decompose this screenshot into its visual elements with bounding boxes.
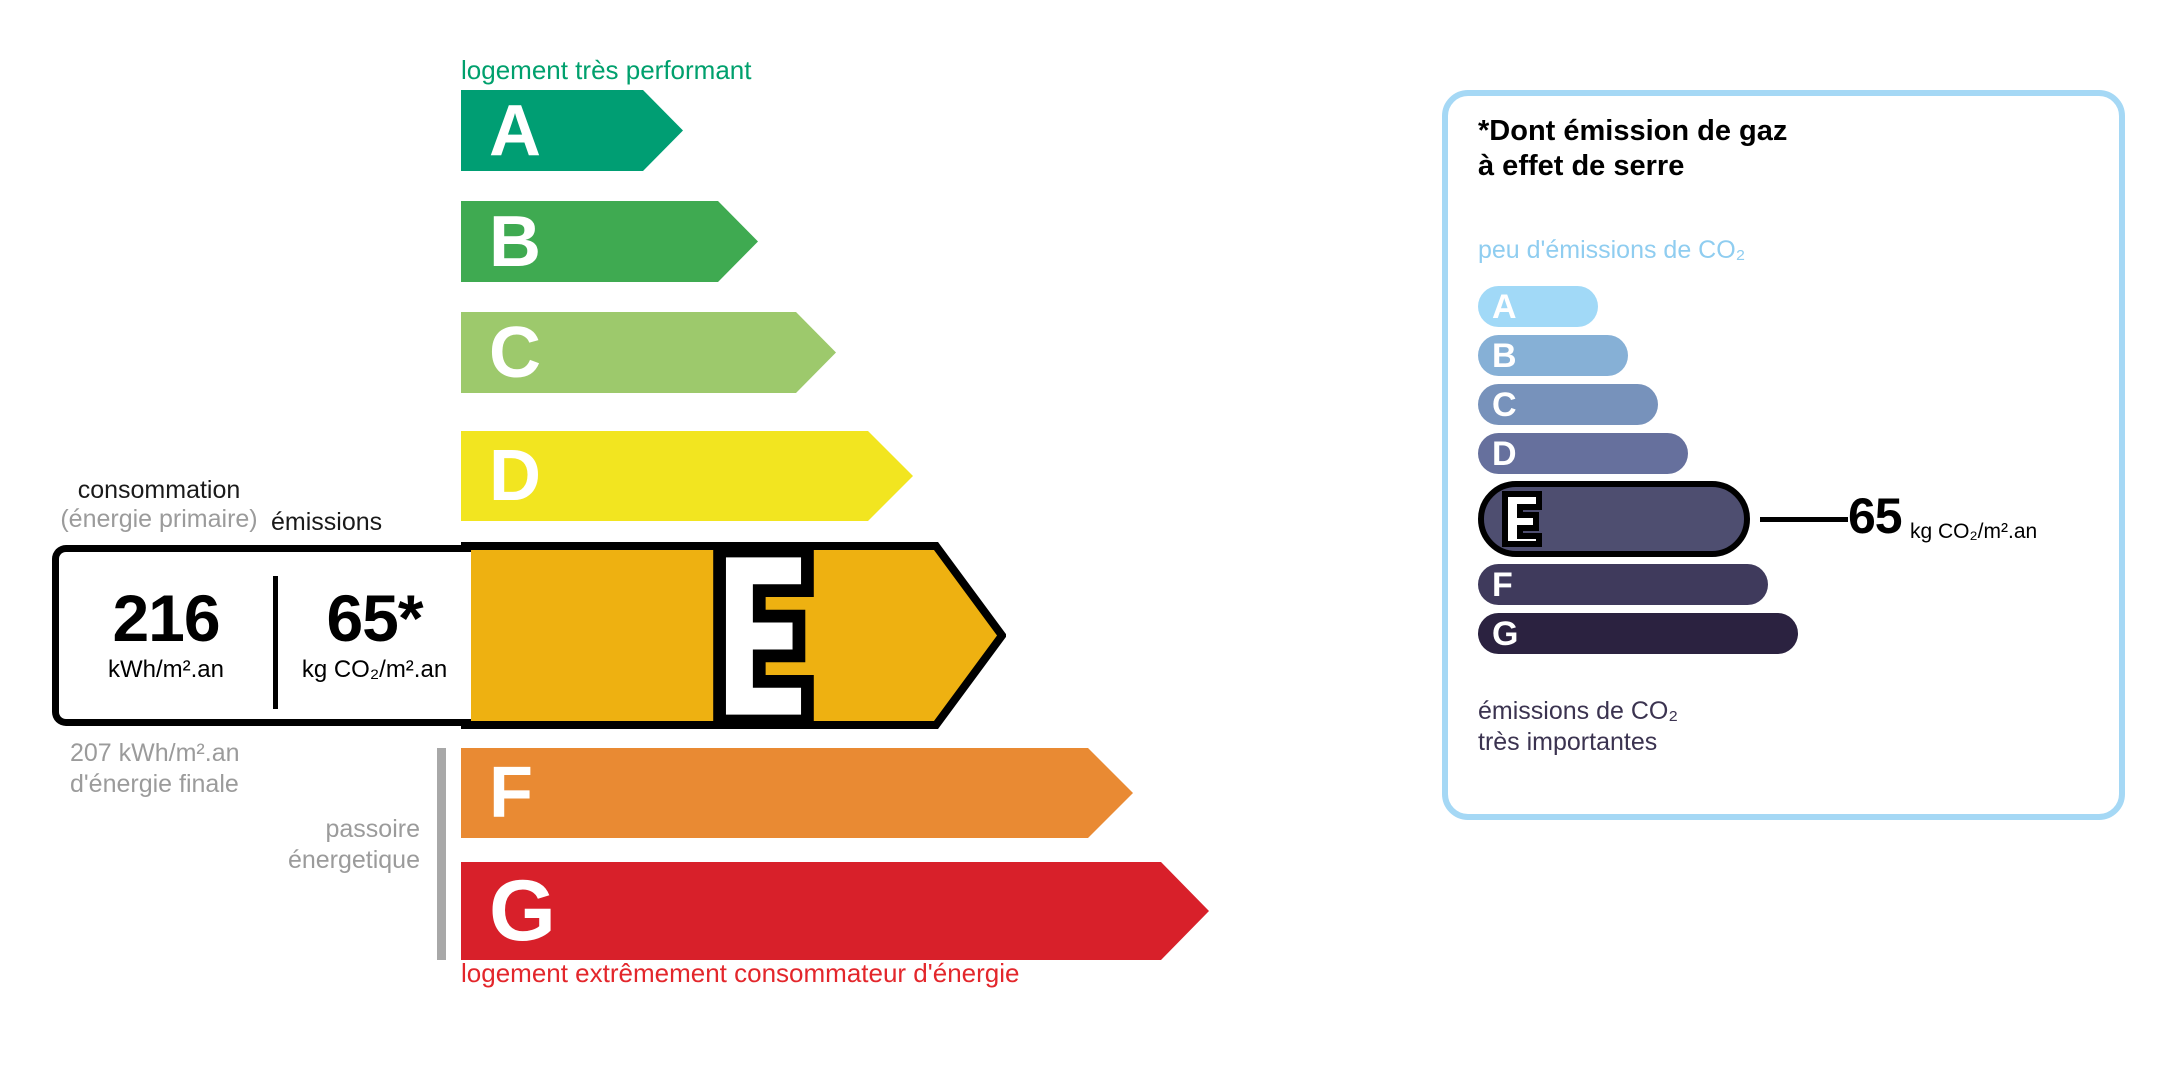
energy-class-letter-a: A: [489, 95, 541, 167]
ges-class-letter-b: B: [1492, 339, 1517, 373]
ges-callout-unit: kg CO₂/m².an: [1910, 520, 2037, 544]
energy-class-letter-g: G: [489, 868, 556, 954]
ges-bar-e-selected: [1478, 481, 1750, 557]
ges-footer: émissions de CO₂ très importantes: [1478, 696, 1678, 757]
ges-class-row-d[interactable]: D: [1478, 433, 1688, 474]
energy-bottom-caption: logement extrêmement consommateur d'éner…: [461, 958, 1019, 989]
consommation-label-main: consommation: [78, 476, 241, 504]
ges-bar-d: D: [1478, 433, 1688, 474]
energy-class-letter-b: B: [489, 206, 541, 278]
ges-class-letter-a: A: [1492, 290, 1517, 324]
ges-class-row-f[interactable]: F: [1478, 564, 1768, 605]
ges-class-row-a[interactable]: A: [1478, 286, 1598, 327]
energy-arrow-e-selected: [461, 542, 1006, 729]
final-energy-note: 207 kWh/m².an d'énergie finale: [70, 738, 240, 801]
ges-bar-a: A: [1478, 286, 1598, 327]
co2-emissions-cell: 65* kg CO₂/m².an: [278, 552, 471, 719]
passoire-indicator-bar: [437, 748, 446, 960]
ges-title: *Dont émission de gaz à effet de serre: [1478, 114, 1787, 185]
consommation-label: consommation (énergie primaire): [52, 476, 266, 534]
ges-class-letter-f: F: [1492, 568, 1513, 602]
energy-class-letter-e: [491, 542, 1036, 729]
ges-panel: *Dont émission de gaz à effet de serre p…: [1442, 90, 2125, 820]
ges-class-letter-c: C: [1492, 388, 1517, 422]
ges-bar-g: G: [1478, 613, 1798, 654]
ges-callout-value: 65: [1848, 491, 1902, 541]
primary-energy-unit: kWh/m².an: [108, 656, 224, 684]
energy-arrow-a: A: [461, 90, 683, 171]
ges-class-row-e[interactable]: [1478, 481, 1750, 557]
ges-bar-b: B: [1478, 335, 1628, 376]
consommation-label-sub: (énergie primaire): [52, 505, 266, 534]
energy-class-letter-c: C: [489, 317, 541, 389]
energy-class-row-d[interactable]: D: [461, 431, 913, 521]
ges-class-row-b[interactable]: B: [1478, 335, 1628, 376]
primary-energy-value: 216: [112, 587, 219, 650]
energy-top-caption: logement très performant: [461, 55, 751, 86]
energy-class-row-f[interactable]: F: [461, 748, 1133, 838]
energy-class-letter-d: D: [489, 440, 541, 512]
energy-values-box: 216 kWh/m².an 65* kg CO₂/m².an: [52, 545, 471, 726]
energy-arrow-g: G: [461, 862, 1209, 960]
energy-arrow-b: B: [461, 201, 758, 282]
energy-class-row-b[interactable]: B: [461, 201, 758, 282]
energy-arrow-d: D: [461, 431, 913, 521]
ges-class-row-g[interactable]: G: [1478, 613, 1798, 654]
co2-emissions-unit: kg CO₂/m².an: [302, 656, 447, 684]
co2-emissions-value: 65*: [326, 587, 422, 650]
ges-callout-leader-line: [1760, 517, 1848, 522]
energy-arrow-c: C: [461, 312, 836, 393]
energy-class-row-c[interactable]: C: [461, 312, 836, 393]
energy-class-row-g[interactable]: G: [461, 862, 1209, 960]
energy-arrow-f: F: [461, 748, 1133, 838]
primary-energy-cell: 216 kWh/m².an: [59, 552, 273, 719]
passoire-energetique-note: passoire énergetique: [180, 814, 420, 877]
ges-class-row-c[interactable]: C: [1478, 384, 1658, 425]
ges-bar-f: F: [1478, 564, 1768, 605]
energy-class-row-a[interactable]: A: [461, 90, 683, 171]
energy-class-letter-f: F: [489, 757, 533, 829]
ges-class-letter-d: D: [1492, 437, 1517, 471]
ges-bar-c: C: [1478, 384, 1658, 425]
energy-class-row-e[interactable]: [461, 542, 1006, 729]
ges-subtitle: peu d'émissions de CO₂: [1478, 236, 1745, 265]
emissions-label: émissions: [271, 508, 471, 537]
ges-class-letter-e: [1500, 489, 1544, 549]
ges-class-letter-g: G: [1492, 617, 1518, 651]
